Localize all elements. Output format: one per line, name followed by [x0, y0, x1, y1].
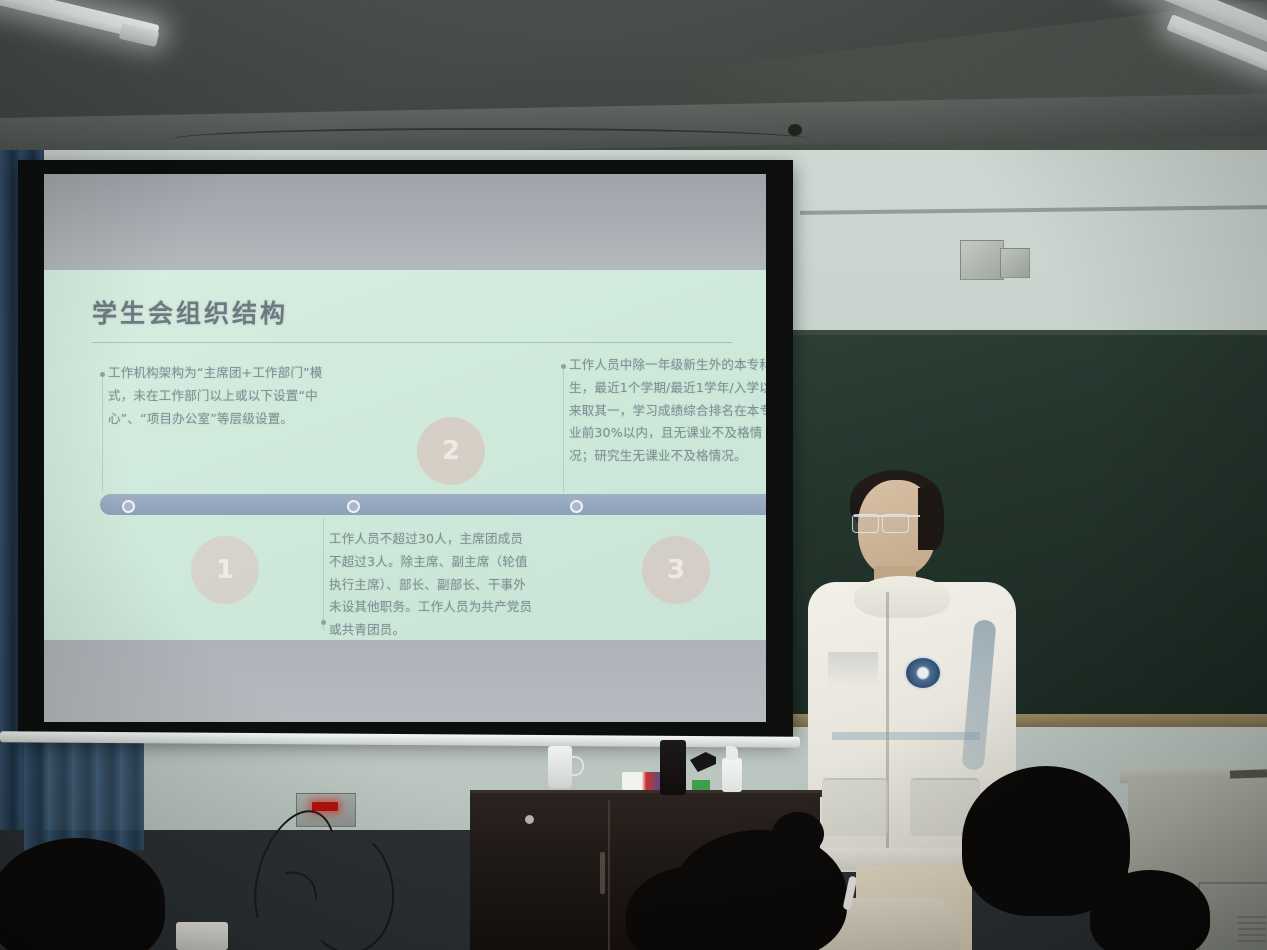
timeline-node-3 [570, 500, 583, 513]
jacket-logo-badge [904, 656, 942, 690]
presentation-slide: 学生会组织结构 1 2 3 工作机构架构为“主席团+工作部门”模式，未在工作部门… [44, 270, 766, 640]
timeline-node-1 [122, 500, 135, 513]
desk-items-group [470, 740, 830, 796]
slide-text-block-3: 工作人员中除一年级新生外的本专科生，最近1个学期/最近1学年/入学以来取其一，学… [569, 354, 766, 468]
letterbox-bar-top [44, 174, 766, 270]
spray-bottle-nozzle-icon [690, 752, 716, 772]
student-notebook [176, 922, 228, 950]
timeline-bar [100, 494, 766, 515]
slide-number-circle-3: 3 [642, 536, 710, 604]
student-head-left [0, 838, 165, 950]
hand-sanitizer-bottle [722, 758, 742, 792]
slide-text-block-1: 工作机构架构为“主席团+工作部门”模式，未在工作部门以上或以下设置“中心”、“项… [108, 362, 338, 430]
projector-screen: 学生会组织结构 1 2 3 工作机构架构为“主席团+工作部门”模式，未在工作部门… [18, 160, 793, 740]
slide-connector-line-3 [563, 366, 564, 492]
slide-text-block-2: 工作人员不超过30人，主席团成员不超过3人。除主席、副主席（轮值执行主席）、部长… [329, 528, 534, 640]
equipment-cabinet-vents [1238, 916, 1266, 946]
ceiling-cable-knot [788, 124, 802, 136]
presenter-jacket-hood [854, 576, 950, 618]
projector-screen-surface: 学生会组织结构 1 2 3 工作机构架构为“主席团+工作部门”模式，未在工作部门… [44, 174, 766, 722]
presenter-hair-side [918, 488, 944, 550]
slide-title-divider [92, 342, 732, 343]
equipment-cabinet-item [1230, 769, 1267, 778]
slide-title: 学生会组织结构 [92, 294, 288, 330]
slide-number-circle-2: 2 [417, 417, 485, 485]
podium-latch-dot [525, 815, 534, 824]
glasses-lens-right [882, 514, 909, 533]
glasses-lens-left [852, 514, 879, 533]
ceiling-cable [170, 128, 810, 152]
classroom-photo-scene: 学 生 学生会组织结构 1 2 3 [0, 0, 1267, 950]
jacket-chest-seam [832, 732, 980, 740]
spray-bottle-label [692, 780, 710, 790]
white-cup [548, 746, 572, 788]
wall-mounted-box-secondary [1000, 248, 1030, 278]
slide-connector-line-2 [323, 518, 324, 630]
black-thermos [660, 740, 686, 795]
led-display [312, 802, 338, 811]
hand-sanitizer-pump [726, 746, 738, 760]
timeline-node-2 [347, 500, 360, 513]
podium-door-handle[interactable] [600, 852, 605, 894]
letterbox-bar-bottom [44, 640, 766, 722]
slide-connector-line-1 [102, 374, 103, 492]
white-cup-handle [570, 756, 584, 776]
student-head-far-right [1090, 870, 1210, 950]
podium-door-seam [608, 800, 610, 950]
slide-number-circle-1: 1 [191, 536, 259, 604]
jacket-chest-print [828, 652, 878, 686]
wall-mounted-box [960, 240, 1004, 280]
jacket-pocket-left [822, 778, 888, 836]
